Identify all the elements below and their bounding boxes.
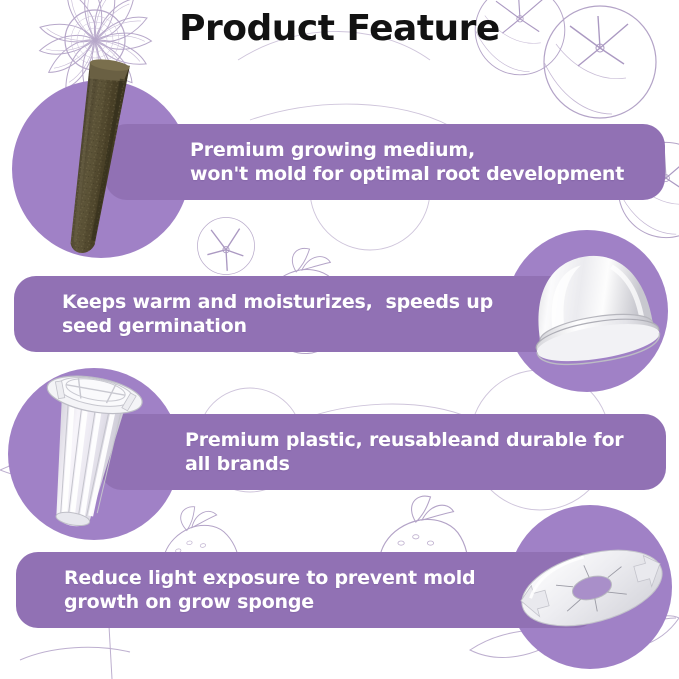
feature-text-light-blocking-disc: Reduce light exposure to prevent mold gr… — [64, 566, 475, 615]
feature-bar-light-blocking-disc: Reduce light exposure to prevent mold gr… — [16, 552, 598, 628]
feature-text-growing-medium: Premium growing medium, won't mold for o… — [190, 138, 624, 187]
page-title: Product Feature — [0, 8, 679, 49]
feature-bar-reusable-pod: Premium plastic, reusableand durable for… — [100, 414, 666, 490]
product-feature-poster: Product Feature Premium growing medium, … — [0, 0, 679, 679]
feature-text-reusable-pod: Premium plastic, reusableand durable for… — [185, 428, 623, 477]
feature-text-humidity-dome: Keeps warm and moisturizes, speeds up se… — [62, 290, 493, 339]
feature-bar-humidity-dome: Keeps warm and moisturizes, speeds up se… — [14, 276, 596, 352]
feature-bar-growing-medium: Premium growing medium, won't mold for o… — [105, 124, 665, 200]
